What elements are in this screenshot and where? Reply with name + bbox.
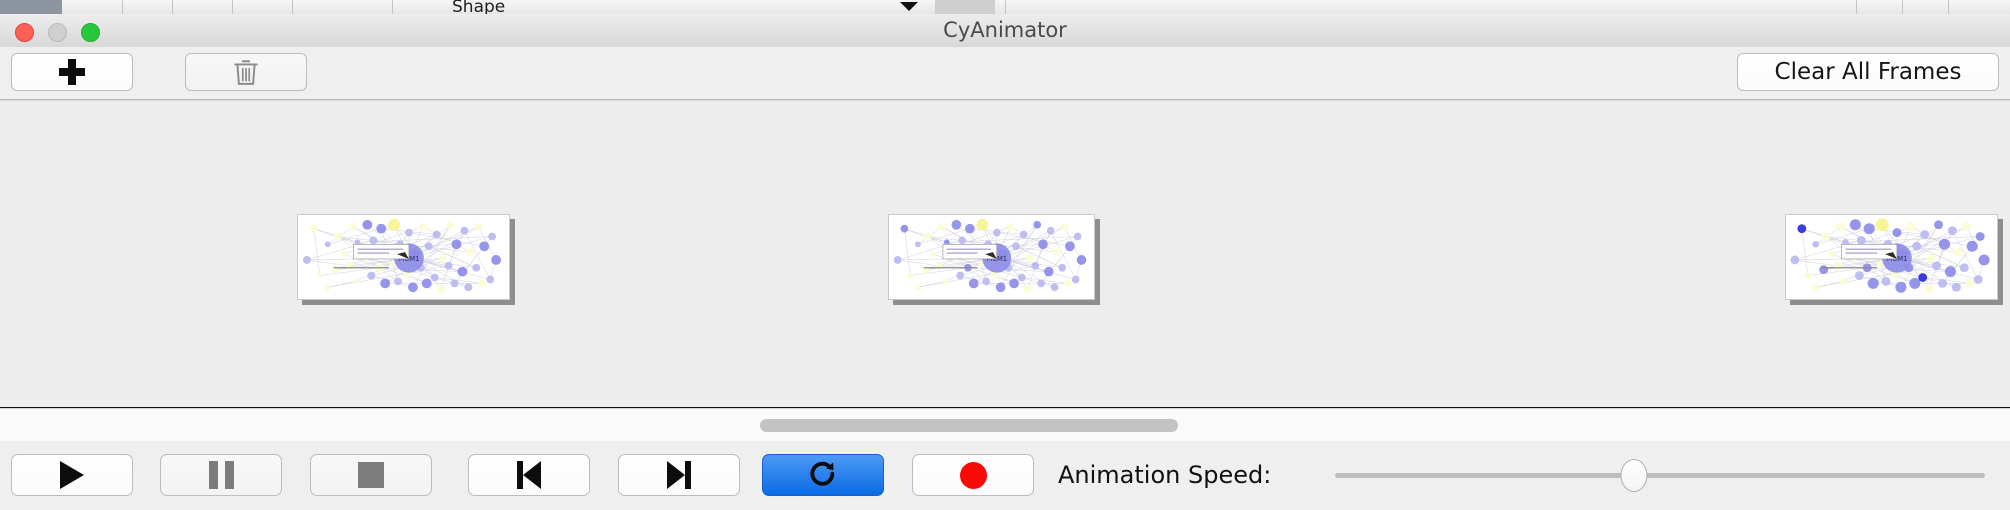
window-title: CyAnimator [0, 14, 2010, 47]
sort-arrow-icon [900, 2, 918, 11]
pause-icon [209, 461, 234, 489]
stop-icon [358, 462, 384, 488]
loop-icon [807, 459, 839, 491]
background-cell [122, 0, 173, 14]
background-cell [1902, 0, 1949, 14]
clear-all-frames-button[interactable]: Clear All Frames [1737, 53, 1999, 91]
background-window-strip: Shape [0, 0, 2010, 14]
play-button[interactable] [11, 454, 133, 496]
playback-controls: Animation Speed: [0, 441, 2010, 510]
horizontal-scrollbar[interactable] [0, 408, 2010, 442]
add-frame-button[interactable] [11, 53, 133, 91]
play-icon [60, 461, 84, 489]
loop-button[interactable] [762, 454, 884, 496]
record-button[interactable] [912, 454, 1034, 496]
skip-back-icon [517, 461, 541, 489]
stop-button[interactable] [310, 454, 432, 496]
background-cell [62, 0, 123, 14]
frame-thumbnail: MCM1 [888, 214, 1095, 300]
plus-icon [59, 59, 85, 85]
frame-thumbnail: MCM1 [1785, 214, 1998, 300]
background-cell [1856, 0, 1903, 14]
skip-forward-icon [667, 461, 691, 489]
timeline-frame[interactable]: MCM1 [888, 214, 1095, 300]
background-cell [172, 0, 233, 14]
skip-back-button[interactable] [468, 454, 590, 496]
animation-speed-slider[interactable] [1335, 454, 1985, 496]
timeline-frame[interactable]: MCM1 [297, 214, 510, 300]
pause-button[interactable] [160, 454, 282, 496]
background-cell [935, 0, 995, 14]
toolbar: Clear All Frames [0, 47, 2010, 100]
scrollbar-thumb[interactable] [760, 419, 1178, 432]
background-window-label: Shape [452, 0, 505, 14]
title-bar[interactable]: CyAnimator [0, 14, 2010, 48]
background-cell [292, 0, 393, 14]
background-cell [995, 0, 1006, 14]
delete-frame-button[interactable] [185, 53, 307, 91]
slider-track[interactable] [1335, 473, 1985, 478]
background-cell [232, 0, 293, 14]
frame-thumbnail: MCM1 [297, 214, 510, 300]
record-icon [960, 462, 987, 489]
skip-forward-button[interactable] [618, 454, 740, 496]
trash-icon [233, 58, 259, 86]
animation-speed-label: Animation Speed: [1058, 454, 1271, 496]
background-selected-cell [0, 0, 62, 14]
timeline-frame[interactable]: MCM1 [1785, 214, 1998, 300]
cyanimator-window: Shape CyAnimator Clear All Frames MCM1MC… [0, 0, 2010, 510]
timeline-panel[interactable]: MCM1MCM1MCM1 12131415161718 Seconds [0, 100, 2010, 409]
slider-thumb[interactable] [1621, 459, 1648, 492]
background-cell [1810, 0, 1857, 14]
